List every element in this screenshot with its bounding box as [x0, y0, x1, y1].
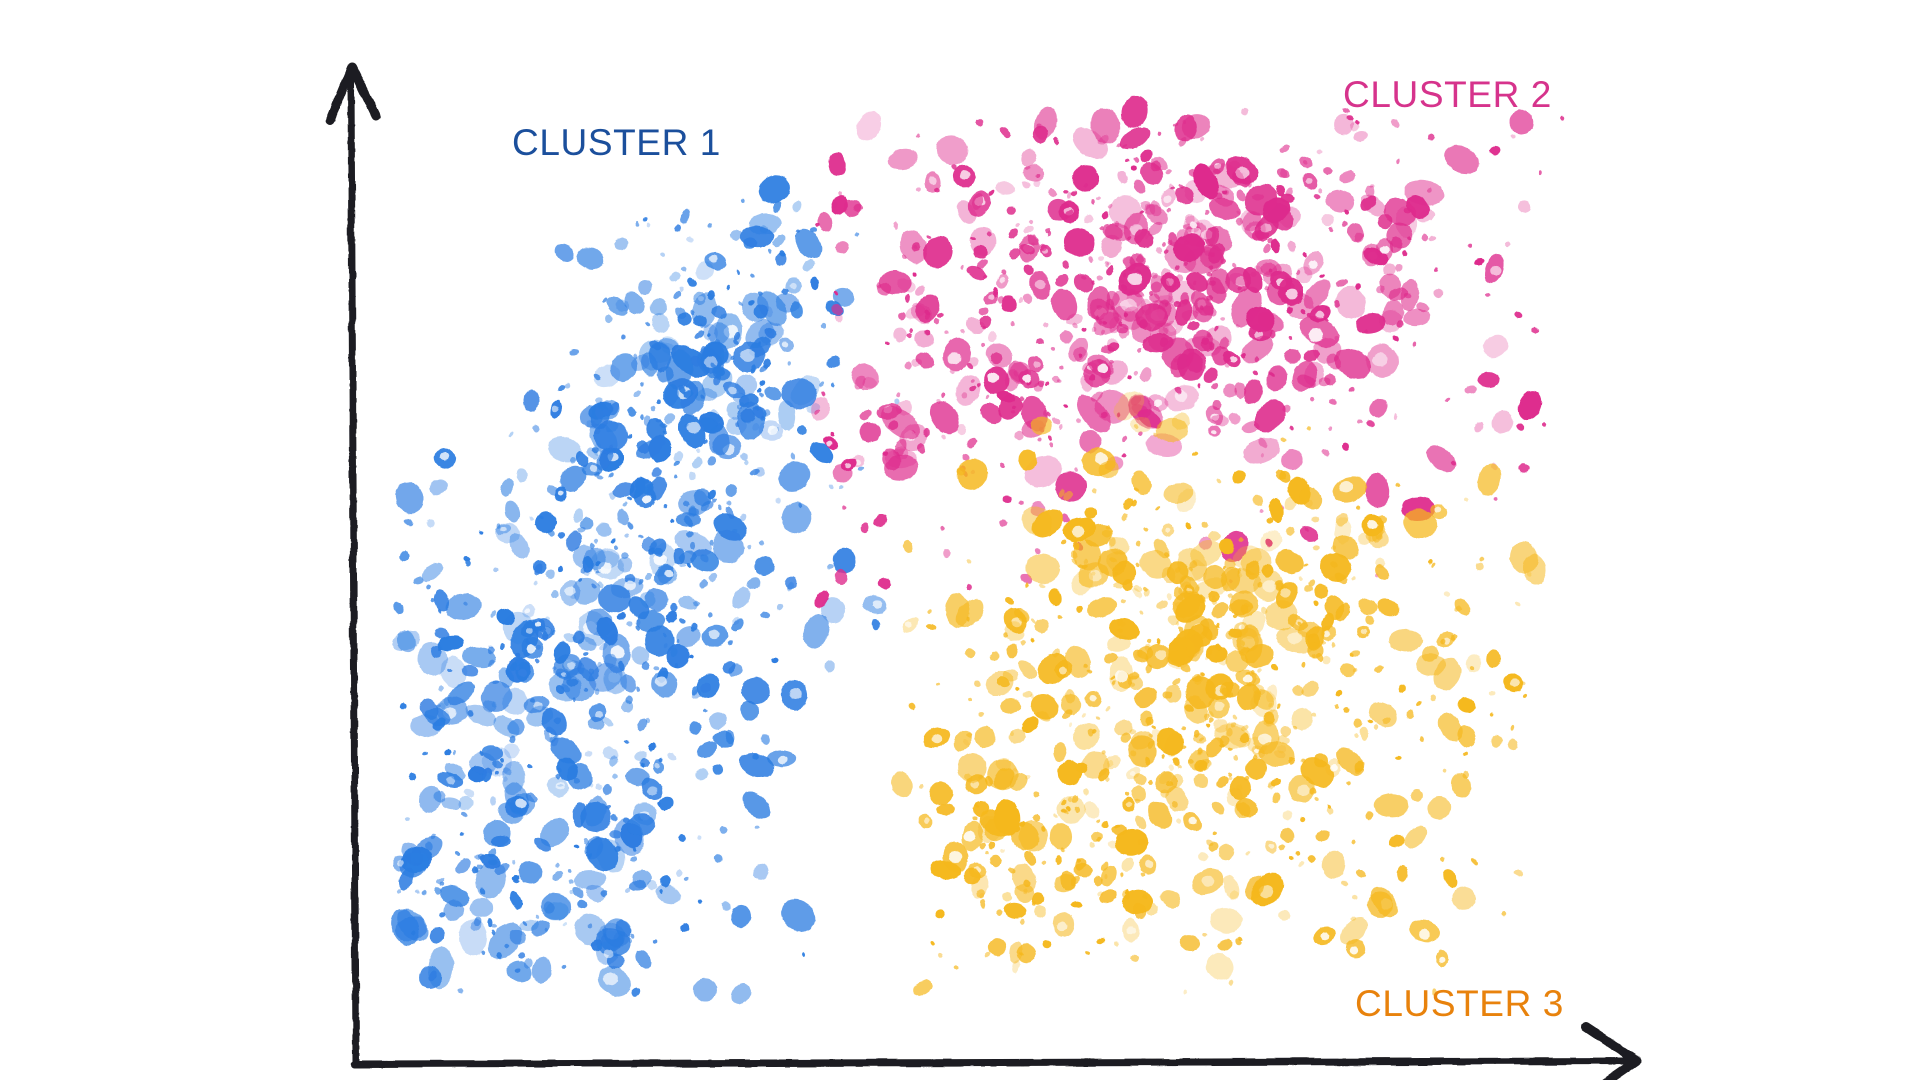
scatter-point: [478, 530, 483, 535]
scatter-point-highlight: [440, 452, 449, 460]
scatter-point: [468, 897, 494, 920]
scatter-point: [1395, 756, 1402, 760]
scatter-point: [1279, 143, 1291, 154]
scatter-point: [698, 578, 710, 590]
scatter-point: [629, 856, 637, 863]
scatter-point-highlight: [1215, 702, 1225, 711]
scatter-point: [1373, 724, 1378, 730]
scatter-point: [494, 567, 500, 571]
scatter-point: [568, 348, 579, 356]
scatter-point: [642, 216, 648, 222]
scatter-point-highlight: [1098, 363, 1109, 372]
scatter-point: [1401, 250, 1406, 256]
scatter-point-highlight: [1059, 667, 1067, 674]
scatter-point: [390, 477, 428, 518]
scatter-point-highlight: [1367, 520, 1377, 529]
scatter-point: [1328, 425, 1334, 431]
scatter-point: [693, 766, 709, 782]
scatter-point: [1179, 934, 1201, 952]
scatter-point: [941, 392, 947, 398]
scatter-point: [1053, 272, 1071, 290]
scatter-point: [1493, 496, 1498, 501]
scatter-point-highlight: [1298, 785, 1310, 796]
scatter-point: [1312, 194, 1320, 201]
scatter-point: [616, 611, 627, 621]
scatter-point: [968, 696, 974, 702]
scatter-point: [1474, 561, 1485, 571]
scatter-point: [1047, 435, 1052, 441]
scatter-point: [1422, 441, 1461, 477]
y-axis: [351, 80, 356, 1064]
scatter-point: [688, 471, 698, 481]
cluster-points-cluster-2: [808, 92, 1564, 610]
scatter-point: [1342, 220, 1348, 227]
scatter-point: [594, 521, 613, 538]
scatter-point: [639, 381, 645, 387]
scatter-point: [1151, 724, 1157, 730]
scatter-point: [498, 477, 516, 498]
scatter-point: [646, 223, 650, 228]
scatter-point: [1001, 295, 1018, 313]
scatter-point-highlight: [964, 831, 975, 841]
scatter-point: [1363, 810, 1374, 822]
scatter-point: [1001, 698, 1022, 713]
scatter-point: [930, 940, 936, 946]
scatter-point: [1136, 562, 1140, 567]
scatter-point: [1183, 990, 1188, 996]
scatter-point: [1278, 909, 1291, 921]
scatter-point: [1443, 590, 1451, 598]
scatter-point: [1490, 712, 1495, 717]
scatter-point: [490, 610, 497, 618]
scatter-point-highlight: [1308, 329, 1323, 343]
scatter-point: [574, 244, 606, 272]
scatter-point: [1007, 860, 1040, 897]
scatter-point: [718, 825, 729, 835]
scatter-point: [725, 484, 737, 497]
scatter-point: [644, 571, 654, 581]
scatter-point: [1329, 226, 1334, 232]
scatter-point: [638, 535, 643, 540]
scatter-point-highlight: [1115, 670, 1128, 682]
scatter-point: [951, 371, 986, 410]
scatter-point-highlight: [590, 465, 597, 472]
scatter-point: [561, 964, 567, 969]
scatter-point-highlight: [500, 527, 506, 532]
scatter-point: [1033, 546, 1040, 554]
scatter-point-highlight: [790, 283, 797, 289]
scatter-point: [1083, 788, 1090, 797]
scatter-point: [856, 419, 884, 447]
scatter-point-highlight: [931, 734, 941, 743]
scatter-point: [1355, 504, 1361, 510]
scatter-point: [1299, 815, 1306, 822]
scatter-point: [1278, 844, 1286, 850]
scatter-point: [830, 432, 834, 436]
scatter-point: [911, 977, 935, 998]
scatter-point: [1121, 453, 1127, 459]
scatter-point: [1405, 709, 1414, 720]
scatter-point: [422, 750, 429, 756]
scatter-point: [650, 405, 656, 412]
scatter-point: [1147, 639, 1151, 643]
scatter-point: [1191, 450, 1198, 456]
scatter-point: [1023, 224, 1036, 235]
scatter-point: [1353, 733, 1359, 739]
scatter-point-highlight: [655, 677, 667, 688]
scatter-point: [1413, 341, 1418, 347]
scatter-point: [1373, 664, 1384, 674]
scatter-point: [1473, 420, 1485, 434]
scatter-point: [461, 810, 469, 818]
scatter-point-highlight: [1090, 695, 1097, 701]
scatter-point: [1306, 426, 1310, 431]
scatter-point: [1135, 540, 1141, 547]
scatter-point: [1513, 311, 1523, 319]
scatter-point: [1133, 156, 1140, 163]
scatter-point: [1096, 195, 1102, 200]
scatter-point: [1125, 158, 1130, 163]
scatter-point: [1206, 723, 1211, 728]
scatter-point: [965, 583, 973, 591]
scatter-point: [953, 965, 959, 970]
scatter-point: [678, 616, 687, 625]
scatter-point: [1082, 713, 1086, 718]
scatter-point: [1004, 595, 1016, 606]
scatter-point: [1089, 840, 1096, 847]
scatter-point: [1297, 155, 1314, 169]
scatter-point: [794, 423, 808, 437]
scatter-point: [1474, 461, 1505, 499]
scatter-point-highlight: [525, 609, 531, 614]
scatter-point-highlight: [1190, 222, 1198, 229]
scatter-point: [1341, 442, 1349, 451]
scatter-point: [925, 622, 937, 631]
scatter-point: [1073, 466, 1079, 472]
scatter-point: [1033, 616, 1052, 635]
scatter-point: [531, 423, 541, 434]
scatter-point: [727, 980, 754, 1008]
scatter-point: [584, 750, 593, 757]
scatter-point: [859, 522, 870, 535]
scatter-point: [1095, 819, 1101, 824]
scatter-point: [1416, 700, 1423, 707]
scatter-point: [593, 538, 599, 544]
scatter-point-highlight: [826, 441, 832, 446]
scatter-point: [397, 889, 402, 893]
scatter-point: [790, 453, 796, 460]
scatter-point: [706, 710, 729, 733]
scatter-point: [1063, 404, 1069, 409]
scatter-point: [999, 125, 1013, 139]
scatter-point: [426, 518, 437, 529]
scatter-point: [1506, 737, 1520, 751]
scatter-point: [526, 763, 533, 769]
scatter-point: [1397, 865, 1408, 882]
scatter-point: [710, 540, 713, 545]
scatter-point: [1166, 208, 1171, 213]
scatter-point: [1285, 525, 1296, 537]
scatter-point: [1321, 448, 1331, 457]
scatter-point: [1354, 868, 1367, 880]
scatter-point: [876, 576, 892, 591]
scatter-point: [1105, 705, 1110, 712]
scatter-point: [1121, 435, 1129, 443]
scatter-point: [1451, 595, 1473, 619]
scatter-point: [1352, 718, 1362, 729]
scatter-point: [789, 224, 827, 264]
scatter-point: [558, 565, 564, 573]
scatter-point: [707, 571, 718, 583]
scatter-point-highlight: [642, 495, 652, 504]
scatter-point-highlight: [923, 818, 929, 823]
scatter-point: [1162, 242, 1166, 247]
x-axis: [354, 1061, 1628, 1064]
scatter-point: [1470, 857, 1479, 866]
scatter-point: [647, 295, 671, 319]
scatter-point: [755, 826, 761, 830]
scatter-point: [981, 343, 985, 347]
scatter-point: [974, 117, 985, 128]
scatter-point: [1181, 727, 1186, 731]
scatter-point-highlight: [1309, 260, 1319, 269]
scatter-point: [516, 858, 546, 886]
scatter-point-highlight: [1035, 280, 1046, 290]
scatter-point: [1193, 281, 1196, 286]
scatter-point: [1228, 979, 1235, 986]
scatter-point: [932, 131, 972, 170]
scatter-point: [1096, 275, 1103, 282]
scatter-point: [1118, 92, 1152, 130]
scatter-point: [935, 682, 941, 687]
scatter-point: [912, 327, 937, 351]
scatter-point: [1400, 822, 1431, 853]
scatter-point: [1359, 727, 1369, 741]
scatter-point: [1062, 260, 1070, 269]
scatter-point: [1456, 696, 1477, 715]
scatter-point: [679, 208, 692, 226]
scatter-point: [1127, 374, 1132, 379]
scatter-point: [885, 341, 889, 346]
scatter-point: [886, 145, 920, 172]
scatter-point: [1510, 724, 1515, 731]
scatter-point-highlight: [1491, 266, 1502, 275]
scatter-point: [1092, 488, 1098, 493]
scatter-point: [984, 850, 990, 855]
scatter-point: [1297, 861, 1304, 868]
scatter-point: [1014, 222, 1019, 227]
scatter-point: [939, 526, 945, 532]
scatter-point: [1357, 420, 1363, 424]
scatter-point-highlight: [1349, 947, 1358, 955]
scatter-point: [841, 505, 846, 510]
scatter-point: [1510, 133, 1516, 139]
scatter-point: [675, 869, 683, 877]
scatter-point: [1486, 649, 1502, 668]
scatter-point: [1068, 722, 1073, 728]
scatter-point: [1389, 117, 1402, 129]
scatter-point-highlight: [1127, 801, 1133, 806]
scatter-point: [1343, 706, 1351, 715]
scatter-point-highlight: [1033, 361, 1040, 368]
scatter-point-highlight: [1130, 771, 1136, 776]
scatter-point: [631, 934, 635, 939]
scatter-point: [1288, 705, 1316, 734]
scatter-point: [1515, 422, 1526, 433]
scatter-point-highlight: [1154, 399, 1162, 406]
scatter-point: [576, 898, 589, 909]
scatter-point-highlight: [1000, 277, 1006, 282]
scatter-point: [645, 321, 651, 327]
scatter-point: [1313, 545, 1320, 550]
scatter-point: [759, 392, 765, 398]
scatter-point: [1463, 497, 1469, 502]
scatter-point: [916, 187, 922, 192]
scatter-point: [1395, 482, 1401, 488]
scatter-point: [941, 434, 946, 440]
scatter-point: [1018, 297, 1023, 303]
scatter-point: [1120, 598, 1126, 604]
scatter-point: [1022, 163, 1046, 184]
scatter-point: [443, 590, 483, 623]
scatter-point: [903, 362, 912, 370]
scatter-point: [1340, 880, 1349, 887]
scatter-point: [610, 813, 618, 822]
scatter-point-highlight: [1510, 679, 1518, 687]
scatter-point: [1036, 437, 1042, 443]
scatter-point: [986, 330, 998, 343]
scatter-point: [666, 751, 677, 761]
scatter-point: [611, 773, 618, 780]
scatter-point: [960, 264, 965, 270]
scatter-point: [727, 500, 732, 506]
scatter-point-highlight: [648, 786, 657, 794]
scatter-point-highlight: [950, 851, 963, 862]
scatter-point: [746, 545, 752, 550]
scatter-point: [512, 859, 516, 864]
scatter-point: [1312, 600, 1320, 608]
scatter-point: [760, 611, 771, 618]
scatter-point-highlight: [1189, 817, 1197, 824]
scatter-point: [1350, 575, 1356, 581]
scatter-point: [740, 198, 745, 203]
scatter-point-highlight: [728, 387, 736, 394]
scatter-point: [1419, 736, 1424, 742]
scatter-point: [1329, 398, 1338, 405]
scatter-point-highlight: [1145, 860, 1153, 867]
scatter-point: [1345, 221, 1367, 245]
scatter-point: [915, 133, 921, 139]
scatter-point: [966, 558, 972, 564]
scatter-point: [787, 361, 791, 366]
scatter-point: [995, 908, 1004, 917]
scatter-point: [980, 899, 986, 910]
scatter-point: [1320, 212, 1336, 229]
scatter-point: [1432, 287, 1445, 300]
scatter-point: [971, 815, 978, 821]
scatter-point-highlight: [665, 569, 674, 577]
scatter-point: [710, 761, 726, 777]
scatter-point: [1314, 829, 1332, 844]
scatter-point: [750, 861, 772, 884]
scatter-point: [1015, 686, 1021, 692]
cluster-points-cluster-3: [886, 385, 1547, 998]
scatter-point: [708, 612, 713, 618]
scatter-point: [1317, 188, 1322, 194]
scatter-point: [821, 323, 826, 329]
scatter-point: [1395, 158, 1400, 164]
scatter-point: [1311, 517, 1319, 523]
scatter-point: [416, 783, 444, 815]
scatter-point-highlight: [1434, 507, 1441, 513]
scatter-point: [919, 783, 925, 789]
scatter-point: [634, 390, 642, 399]
scatter-point: [1155, 599, 1170, 611]
scatter-point: [487, 918, 493, 927]
scatter-point: [1393, 414, 1397, 420]
scatter-point: [1184, 522, 1193, 531]
scatter-point: [1473, 257, 1485, 267]
scatter-point: [1514, 387, 1546, 424]
scatter-point: [1071, 901, 1083, 908]
scatter-point: [897, 392, 901, 397]
scatter-point: [490, 796, 496, 806]
scatter-point: [1541, 422, 1547, 428]
scatter-point: [1169, 764, 1175, 772]
scatter-point: [1000, 848, 1005, 853]
scatter-point: [626, 406, 638, 419]
scatter-point: [719, 900, 732, 913]
scatter-point: [663, 503, 669, 509]
scatter-point: [1015, 657, 1040, 683]
scatter-point: [1365, 697, 1402, 732]
scatter-point: [828, 484, 835, 490]
scatter-point: [846, 358, 884, 395]
scatter-point: [1428, 235, 1436, 242]
scatter-point: [438, 685, 445, 692]
scatter-point: [925, 777, 958, 810]
scatter-point: [1096, 936, 1107, 945]
scatter-point: [1002, 496, 1012, 504]
scatter-point-highlight: [708, 629, 719, 639]
scatter-point: [669, 518, 675, 524]
scatter-point: [610, 537, 617, 544]
scatter-point: [624, 739, 630, 745]
scatter-point: [770, 657, 778, 664]
scatter-point: [1351, 894, 1358, 899]
cluster-2-label: CLUSTER 2: [1343, 76, 1552, 113]
scatter-point: [750, 273, 755, 279]
scatter-point: [1005, 205, 1017, 217]
scatter-point: [677, 593, 699, 612]
scatter-point-highlight: [1381, 246, 1390, 254]
scatter-point: [826, 563, 835, 571]
scatter-point: [852, 107, 886, 145]
scatter-point: [1233, 755, 1239, 761]
scatter-point: [1277, 825, 1297, 845]
scatter-point: [985, 393, 991, 399]
scatter-point-highlight: [1254, 748, 1260, 753]
scatter-point: [703, 708, 709, 713]
scatter-point: [912, 272, 917, 277]
scatter-point: [1440, 867, 1460, 890]
scatter-point: [1278, 445, 1307, 474]
scatter-point-highlight: [1269, 844, 1275, 849]
scatter-point: [1364, 614, 1376, 626]
scatter-point-highlight: [778, 755, 788, 764]
scatter-point: [1044, 382, 1050, 388]
scatter-point: [1303, 563, 1309, 567]
